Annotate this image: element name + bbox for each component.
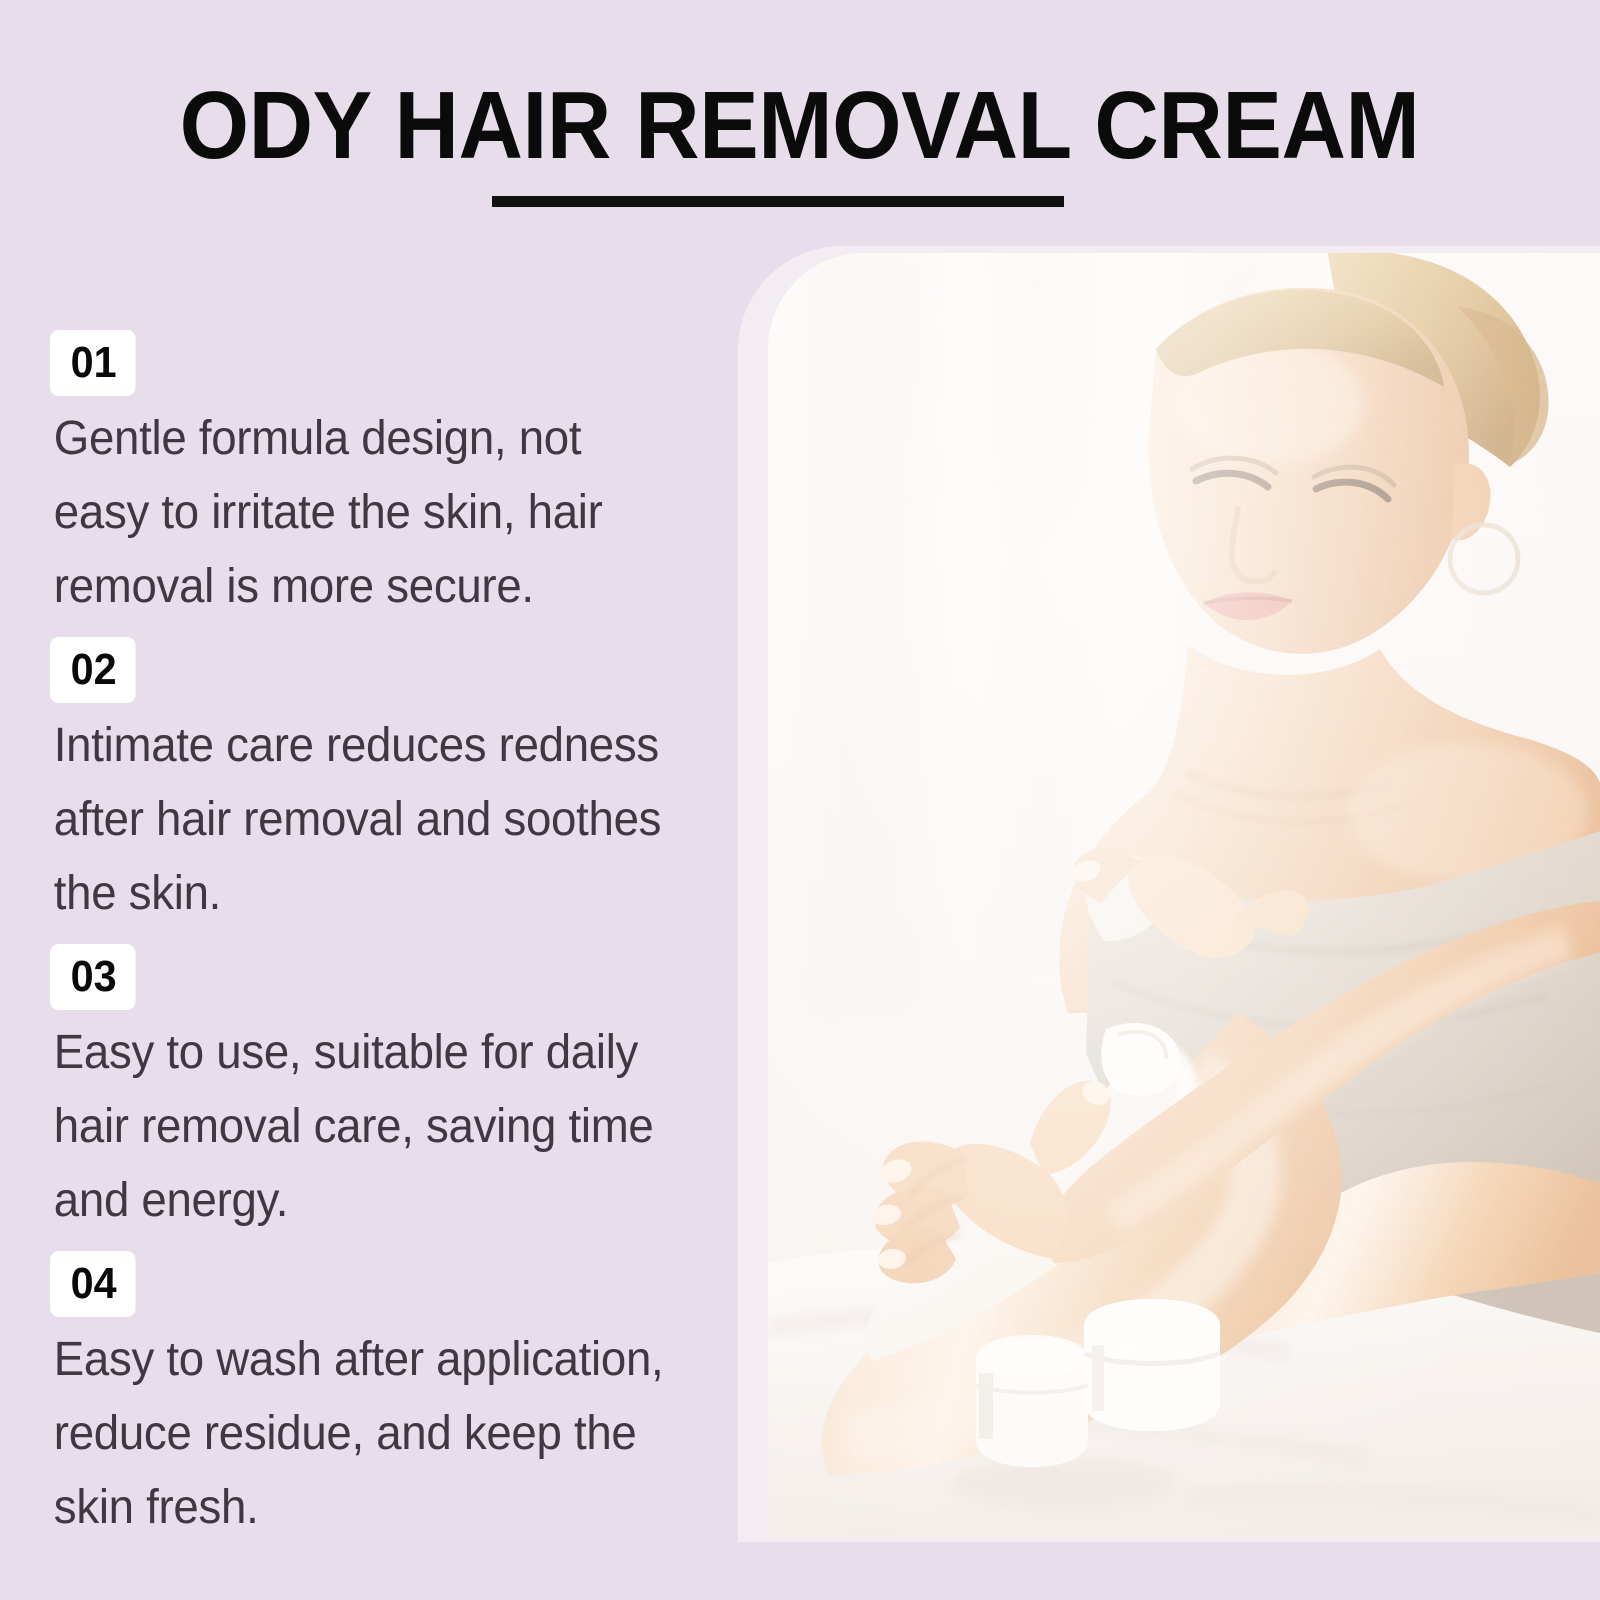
product-infographic-poster: ODY HAIR REMOVAL CREAM 01 Gentle formula… [0,0,1600,1600]
feature-number-badge: 01 [50,330,135,396]
feature-description: Intimate care reduces redness after hair… [50,709,677,931]
page-title-text: ODY HAIR REMOVAL CREAM [180,78,1420,174]
feature-item: 04 Easy to wash after application, reduc… [50,1251,710,1545]
feature-description: Gentle formula design, not easy to irrit… [50,402,677,624]
photo-illustration [768,253,1600,1538]
feature-number-badge: 02 [50,637,135,703]
feature-item: 01 Gentle formula design, not easy to ir… [50,330,710,624]
title-underline [492,196,1064,207]
feature-number-badge: 03 [50,944,135,1010]
feature-number-badge: 04 [50,1251,135,1317]
feature-description: Easy to wash after application, reduce r… [50,1323,677,1545]
product-lifestyle-photo [768,253,1600,1538]
page-title: ODY HAIR REMOVAL CREAM [0,78,1600,174]
feature-list: 01 Gentle formula design, not easy to ir… [50,330,710,1558]
feature-item: 03 Easy to use, suitable for daily hair … [50,944,710,1238]
feature-item: 02 Intimate care reduces redness after h… [50,637,710,931]
feature-description: Easy to use, suitable for daily hair rem… [50,1016,677,1238]
